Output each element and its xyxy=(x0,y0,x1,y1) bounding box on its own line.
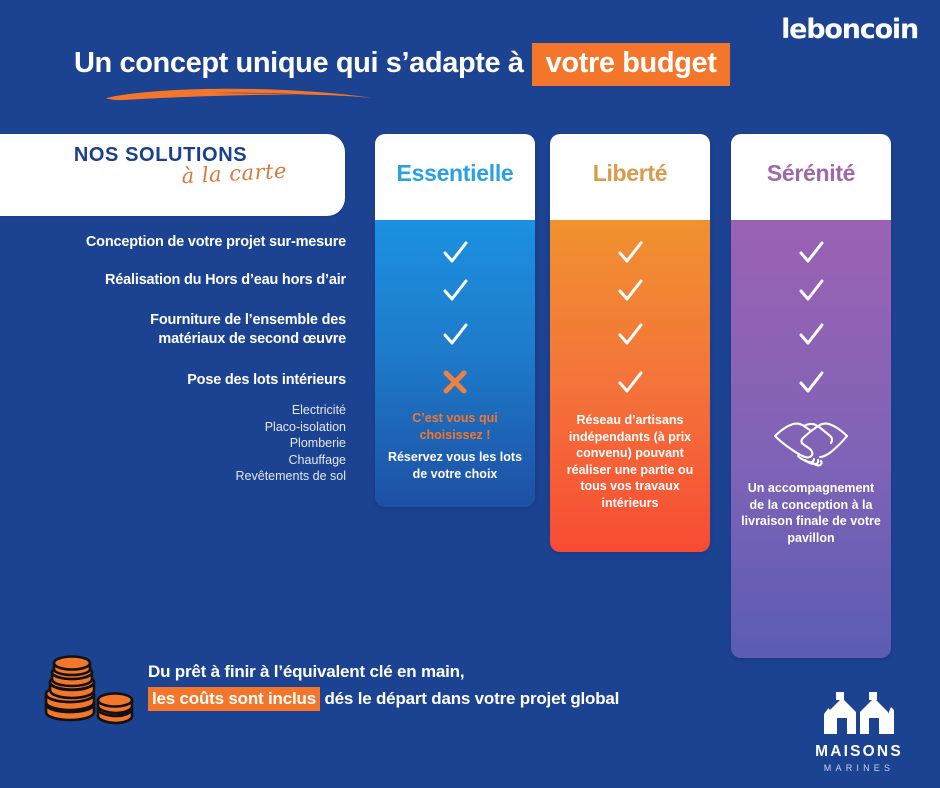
plan-title-serenite: Sérénité xyxy=(767,160,855,187)
plan-title-liberte: Liberté xyxy=(593,160,668,187)
footer-highlight: les coûts sont inclus xyxy=(148,687,320,711)
feature-row-1: Conception de votre projet sur-mesure xyxy=(0,233,350,252)
check-icon xyxy=(375,238,535,272)
infographic-page: leboncoin Un concept unique qui s’adapte… xyxy=(0,0,940,788)
plan-body-serenite: Un accompagnement de la conception à la … xyxy=(731,220,891,658)
plan-note-essentielle: C’est vous qui choisissez ! Réservez vou… xyxy=(385,410,525,482)
plan-title-essentielle: Essentielle xyxy=(397,160,514,187)
footer-line-2: les coûts sont inclus dés le départ dans… xyxy=(148,685,619,712)
plan-body-liberte: Réseau d’artisans indépendants (à prix c… xyxy=(550,220,710,552)
plan-card-serenite[interactable]: Sérénité xyxy=(731,134,891,658)
feature-row-3: Fourniture de l’ensemble des matériaux d… xyxy=(0,311,350,349)
check-icon xyxy=(375,320,535,354)
plan-note-white-essentielle: Réservez vous les lots de votre choix xyxy=(385,449,525,482)
check-icon xyxy=(731,320,891,354)
leboncoin-logo: leboncoin xyxy=(781,14,918,45)
feature-row-4: Pose des lots intérieurs xyxy=(0,371,350,390)
feature-row-3-line1: Fourniture de l’ensemble des xyxy=(0,311,346,330)
footer-line-2-rest: dés le départ dans votre projet global xyxy=(324,689,619,708)
plan-note-serenite: Un accompagnement de la conception à la … xyxy=(741,480,881,546)
company-subtitle: MARINES xyxy=(804,763,914,773)
check-icon xyxy=(550,238,710,272)
cross-icon xyxy=(375,368,535,400)
headline-block: Un concept unique qui s’adapte àvotre bu… xyxy=(0,42,940,102)
plan-card-essentielle[interactable]: Essentielle C’est vous qui choisissez ! xyxy=(375,134,535,507)
footer-text: Du prêt à finir à l’équivalent clé en ma… xyxy=(148,658,619,712)
check-icon xyxy=(550,320,710,354)
sublist-item-placo-isolation: Placo-isolation xyxy=(0,419,346,436)
plan-header-essentielle: Essentielle xyxy=(375,134,535,220)
feature-list: Conception de votre projet sur-mesure Ré… xyxy=(0,228,350,485)
plan-note-orange-essentielle: C’est vous qui choisissez ! xyxy=(385,410,525,443)
plan-header-serenite: Sérénité xyxy=(731,134,891,220)
sublist-item-chauffage: Chauffage xyxy=(0,452,346,469)
plan-note-liberte: Réseau d’artisans indépendants (à prix c… xyxy=(560,412,700,511)
sublist-item-revetements-de-sol: Revêtements de sol xyxy=(0,468,346,485)
feature-sublist: Electricité Placo-isolation Plomberie Ch… xyxy=(0,402,350,485)
check-icon xyxy=(375,276,535,310)
plan-header-liberte: Liberté xyxy=(550,134,710,220)
footer-line-1: Du prêt à finir à l’équivalent clé en ma… xyxy=(148,658,619,685)
plan-body-essentielle: C’est vous qui choisissez ! Réservez vou… xyxy=(375,220,535,507)
plan-card-liberte[interactable]: Liberté Réseau d’artisans indépendants (… xyxy=(550,134,710,552)
page-title-text: Un concept unique qui s’adapte à xyxy=(74,47,524,79)
check-icon xyxy=(550,276,710,310)
orange-swoosh-underline xyxy=(104,86,374,102)
house-m-icon xyxy=(822,690,896,734)
handshake-icon xyxy=(731,412,891,477)
check-icon xyxy=(731,276,891,310)
solutions-card-inner: NOS SOLUTIONS à la carte xyxy=(0,134,345,216)
check-icon xyxy=(731,238,891,272)
feature-row-3-line2: matériaux de second œuvre xyxy=(0,330,346,349)
feature-row-2: Réalisation du Hors d’eau hors d’air xyxy=(0,271,350,290)
company-name: MAISONS xyxy=(804,743,914,761)
maisons-marines-logo: MAISONS MARINES xyxy=(804,690,914,773)
solutions-card: NOS SOLUTIONS à la carte xyxy=(0,134,345,216)
page-title-highlight: votre budget xyxy=(532,43,731,86)
check-icon xyxy=(731,368,891,402)
sublist-item-plomberie: Plomberie xyxy=(0,435,346,452)
sublist-item-electricite: Electricité xyxy=(0,402,346,419)
page-title: Un concept unique qui s’adapte àvotre bu… xyxy=(74,42,730,86)
check-icon xyxy=(550,368,710,402)
coins-stack-icon xyxy=(36,654,136,726)
